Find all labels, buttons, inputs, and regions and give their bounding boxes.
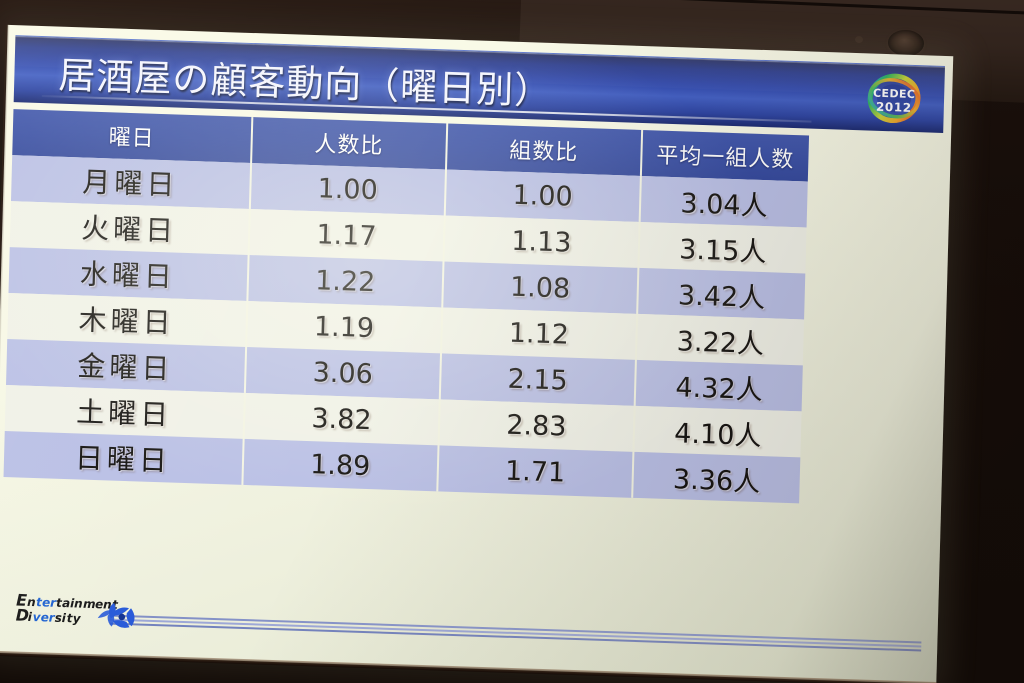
svg-text:m: m: [83, 597, 96, 611]
presentation-slide: 居酒屋の顧客動向（曜日別）: [0, 25, 953, 683]
svg-text:n: n: [74, 596, 83, 610]
cell-people-ratio: 1.22: [247, 255, 443, 307]
cell-day: 木曜日: [7, 293, 247, 347]
column-header-day: 曜日: [12, 109, 252, 163]
cell-avg-party: 3.22人: [636, 314, 804, 366]
cell-group-ratio: 1.08: [442, 261, 638, 313]
cell-group-ratio: 1.13: [443, 215, 639, 267]
cell-group-ratio: 1.71: [437, 445, 633, 497]
cell-group-ratio: 2.15: [440, 353, 636, 405]
cell-people-ratio: 1.17: [248, 209, 444, 261]
cell-avg-party: 3.42人: [637, 268, 805, 320]
cell-group-ratio: 1.12: [441, 307, 637, 359]
table-body: 月曜日 1.00 1.00 3.04人 火曜日 1.17 1.13 3.15人 …: [4, 155, 808, 503]
footer-rule-lines: [110, 615, 922, 653]
cell-group-ratio: 1.00: [445, 169, 641, 221]
customer-trend-table: 曜日 人数比 組数比 平均一組人数 月曜日 1.00 1.00 3.04人 火曜…: [4, 109, 810, 503]
cell-avg-party: 3.04人: [639, 176, 807, 228]
cedec-logo-icon: CEDEC 2012: [865, 70, 922, 126]
entertainment-diversity-logo: E n t e r t a i n m e n t D i: [13, 587, 138, 631]
screenshot-root: 居酒屋の顧客動向（曜日別）: [0, 0, 1024, 683]
cell-day: 金曜日: [6, 339, 246, 393]
cell-day: 水曜日: [8, 247, 248, 301]
cell-people-ratio: 3.82: [243, 393, 439, 445]
cell-day: 月曜日: [11, 155, 251, 209]
cell-people-ratio: 1.89: [242, 439, 438, 491]
cell-avg-party: 4.32人: [635, 360, 803, 412]
cell-avg-party: 4.10人: [633, 406, 801, 458]
svg-text:y: y: [73, 611, 82, 625]
ceiling-fixture-screw: [855, 36, 863, 43]
column-header-avg-party: 平均一組人数: [641, 130, 809, 182]
cell-day: 日曜日: [4, 431, 244, 485]
cell-people-ratio: 1.19: [246, 301, 442, 353]
cell-people-ratio: 3.06: [245, 347, 441, 399]
column-header-group-ratio: 組数比: [446, 124, 642, 176]
projection-screen: 居酒屋の顧客動向（曜日別）: [0, 25, 953, 683]
cell-group-ratio: 2.83: [438, 399, 634, 451]
cell-people-ratio: 1.00: [250, 163, 446, 215]
svg-text:2012: 2012: [876, 100, 912, 115]
cell-avg-party: 3.15人: [638, 222, 806, 274]
cell-day: 火曜日: [10, 201, 250, 255]
cell-day: 土曜日: [5, 385, 245, 439]
cell-avg-party: 3.36人: [632, 452, 800, 504]
column-header-people-ratio: 人数比: [251, 117, 447, 169]
